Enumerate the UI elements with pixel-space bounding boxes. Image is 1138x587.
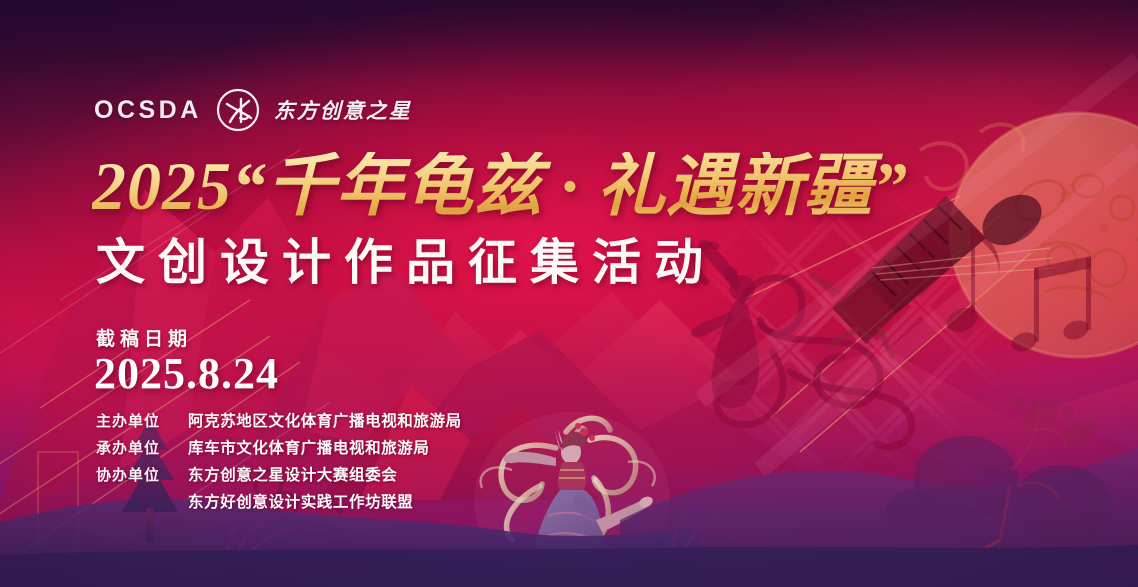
organizer-row: 主办单位 阿克苏地区文化体育广播电视和旅游局 <box>96 409 462 431</box>
organizer-row: 东方好创意设计实践工作坊联盟 <box>96 490 462 512</box>
organizer-label: 承办单位 <box>96 437 174 458</box>
page-subtitle: 文创设计作品征集活动 <box>96 238 716 287</box>
brand-chinese-name: 东方创意之星 <box>274 95 412 125</box>
promotional-poster: OCSDA 东方创意之星 2025“千年龟兹 · 礼遇新疆” 文创设计作品征集活… <box>0 0 1138 587</box>
organizer-row: 承办单位 库车市文化体育广播电视和旅游局 <box>96 436 462 458</box>
organizer-value: 东方创意之星设计大赛组委会 <box>188 463 397 485</box>
organizer-row: 协办单位 东方创意之星设计大赛组委会 <box>96 463 462 485</box>
organizer-value: 库车市文化体育广播电视和旅游局 <box>188 436 430 458</box>
organizer-value: 阿克苏地区文化体育广播电视和旅游局 <box>188 409 462 431</box>
star-emblem-icon <box>216 88 260 132</box>
organizer-label: 协办单位 <box>96 464 174 485</box>
organizer-list: 主办单位 阿克苏地区文化体育广播电视和旅游局 承办单位 库车市文化体育广播电视和… <box>96 409 462 512</box>
deadline-date: 2025.8.24 <box>94 350 279 398</box>
organizer-value: 东方好创意设计实践工作坊联盟 <box>188 490 413 512</box>
brand-logo[interactable]: OCSDA 东方创意之星 <box>94 88 412 132</box>
brand-acronym: OCSDA <box>94 96 202 125</box>
organizer-label: 主办单位 <box>96 410 174 431</box>
deadline-label: 截稿日期 <box>96 324 192 351</box>
page-title: 2025“千年龟兹 · 礼遇新疆” <box>92 152 908 220</box>
